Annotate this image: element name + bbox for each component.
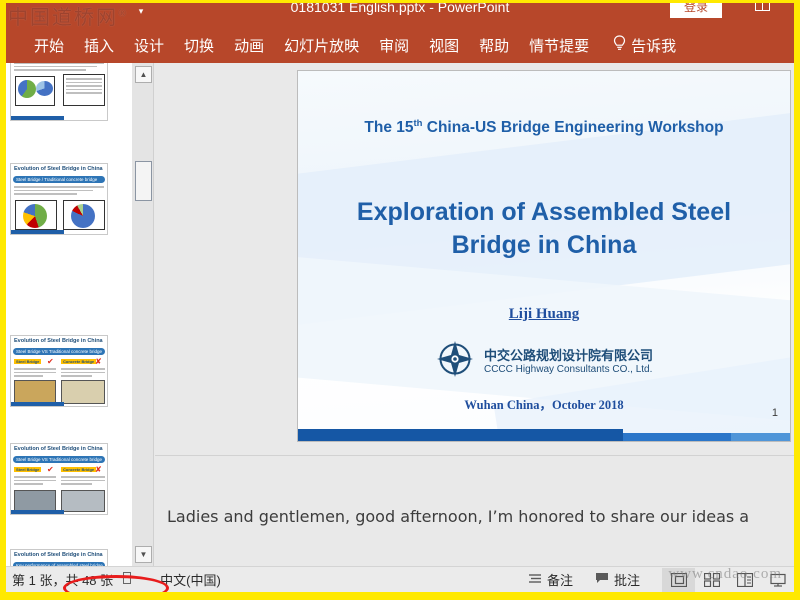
- thumb-left-label: Steel Bridge: [14, 359, 41, 364]
- slide-thumbnail-pane[interactable]: Steel Bridge / Traditional concrete brid…: [6, 63, 132, 566]
- slideshow-icon[interactable]: [761, 568, 794, 592]
- cross-mark-icon: ✘: [95, 465, 102, 474]
- slide-title-line-1: Exploration of Assembled Steel: [316, 196, 772, 229]
- notes-button[interactable]: 备注: [528, 570, 573, 589]
- thumb-body-lines: [14, 63, 104, 73]
- notes-text[interactable]: Ladies and gentlemen, good afternoon, I’…: [167, 459, 792, 566]
- tab-view[interactable]: 视图: [419, 33, 469, 58]
- scrollbar-thumb[interactable]: [135, 161, 152, 201]
- slide-main-title[interactable]: Exploration of Assembled Steel Bridge in…: [316, 196, 772, 262]
- thumb-title: Evolution of Steel Bridge in China: [14, 166, 103, 172]
- tab-review[interactable]: 审阅: [369, 33, 419, 58]
- tell-me-label: 告诉我: [631, 35, 676, 56]
- quick-access-toolbar-dropdown-icon[interactable]: ▾: [134, 4, 148, 18]
- normal-view-icon[interactable]: [662, 568, 695, 592]
- thumb-subtitle-bar: Steel Bridge VS Traditional concrete bri…: [13, 348, 105, 355]
- thumb-chart-pie-2a: [15, 200, 57, 230]
- list-item[interactable]: Steel Bridge / Traditional concrete brid…: [10, 63, 108, 121]
- thumb-table-1: [63, 74, 105, 106]
- notes-button-label: 备注: [547, 570, 573, 589]
- thumb-right-label: Concrete Bridge: [61, 359, 96, 364]
- comments-button[interactable]: 批注: [595, 570, 640, 589]
- slide-header-suffix: China-US Bridge Engineering Workshop: [422, 119, 723, 136]
- accessibility-checker-icon[interactable]: [123, 572, 134, 588]
- notes-pane[interactable]: Ladies and gentlemen, good afternoon, I’…: [155, 455, 794, 566]
- slide-sorter-icon[interactable]: [695, 568, 728, 592]
- cross-mark-icon: ✘: [95, 357, 102, 366]
- status-bar: 第 1 张，共 48 张 中文(中国) 备注: [6, 566, 794, 592]
- notes-icon: [528, 572, 542, 587]
- thumb-footer-bar: [11, 402, 64, 406]
- triangle-up-icon[interactable]: ▲: [135, 66, 152, 83]
- thumbnail-scrollbar[interactable]: ▲ ▼: [132, 63, 154, 566]
- workspace: Steel Bridge / Traditional concrete brid…: [6, 63, 794, 566]
- slide-org-name-cn: 中交公路规划设计院有限公司: [484, 348, 653, 363]
- thumb-photo-right: [61, 380, 105, 404]
- thumb-footer-bar: [11, 230, 64, 234]
- tab-slideshow[interactable]: 幻灯片放映: [274, 33, 369, 58]
- thumb-chart-pie-1: [15, 76, 55, 106]
- tab-home[interactable]: 开始: [24, 33, 74, 58]
- list-item[interactable]: Evolution of Steel Bridge in China Steel…: [10, 335, 108, 407]
- thumb-subtitle: Steel Bridge VS Traditional concrete bri…: [16, 348, 105, 355]
- tab-insert[interactable]: 插入: [74, 33, 124, 58]
- thumb-subtitle-bar: Steel Bridge / Traditional concrete brid…: [13, 176, 105, 183]
- tell-me-box[interactable]: 告诉我: [599, 33, 686, 58]
- slide-workshop-header[interactable]: The 15th China-US Bridge Engineering Wor…: [298, 118, 790, 137]
- lightbulb-icon: [613, 35, 626, 56]
- reading-view-icon[interactable]: [728, 568, 761, 592]
- thumb-title: Evolution of Steel Bridge in China: [14, 446, 103, 452]
- thumb-left-label: Steel Bridge: [14, 467, 41, 472]
- thumb-title: Evolution of Steel Bridge in China: [14, 552, 103, 558]
- thumb-footer-bar: [11, 116, 64, 120]
- notes-divider: [155, 455, 794, 456]
- slide-organization[interactable]: 中交公路规划设计院有限公司 CCCC Highway Consultants C…: [298, 339, 790, 384]
- powerpoint-window: 0181031 English.pptx - PowerPoint ▾ 登录 开…: [0, 0, 800, 600]
- thumb-footer-bar: [11, 510, 64, 514]
- list-item[interactable]: Evolution of Steel Bridge in China Steel…: [10, 163, 108, 235]
- triangle-down-icon[interactable]: ▼: [135, 546, 152, 563]
- sign-in-button[interactable]: 登录: [670, 3, 722, 18]
- check-mark-icon: ✔: [47, 357, 54, 366]
- notes-line-1: Ladies and gentlemen, good afternoon, I’…: [167, 505, 792, 528]
- slide-edit-area[interactable]: The 15th China-US Bridge Engineering Wor…: [155, 63, 794, 455]
- slide-header-prefix: The 15: [364, 119, 413, 136]
- thumb-body-lines: [14, 186, 104, 197]
- title-bar: 0181031 English.pptx - PowerPoint ▾ 登录: [6, 3, 794, 28]
- comment-icon: [595, 572, 609, 587]
- tab-help[interactable]: 帮助: [469, 33, 519, 58]
- ribbon-display-options-icon[interactable]: [755, 3, 770, 11]
- thumb-subtitle-bar: Steel Bridge VS Traditional concrete bri…: [13, 456, 105, 463]
- slide-count-indicator[interactable]: 第 1 张，共 48 张: [12, 570, 113, 589]
- language-indicator[interactable]: 中文(中国): [160, 570, 221, 589]
- tab-animations[interactable]: 动画: [224, 33, 274, 58]
- list-item[interactable]: Evolution of Steel Bridge in China Key p…: [10, 549, 108, 566]
- thumb-right-label: Concrete Bridge: [61, 467, 96, 472]
- thumb-chart-pie-2b: [63, 200, 105, 230]
- thumb-photo-left: [14, 380, 56, 404]
- thumb-photo-right: [61, 490, 105, 512]
- list-item[interactable]: Evolution of Steel Bridge in China Steel…: [10, 443, 108, 515]
- tab-design[interactable]: 设计: [124, 33, 174, 58]
- slide-org-name-en: CCCC Highway Consultants CO., Ltd.: [484, 363, 653, 376]
- view-switcher: [662, 568, 794, 592]
- slide-location-date[interactable]: Wuhan China，October 2018: [298, 394, 790, 413]
- ribbon-tab-bar: 开始 插入 设计 切换 动画 幻灯片放映 审阅 视图 帮助 情节提要 告诉我: [6, 28, 794, 63]
- cccc-compass-logo-icon: [435, 339, 475, 384]
- slide-title-line-2: Bridge in China: [316, 229, 772, 262]
- tab-transitions[interactable]: 切换: [174, 33, 224, 58]
- thumb-title: Evolution of Steel Bridge in China: [14, 338, 103, 344]
- slide-page-number: 1: [772, 407, 778, 419]
- current-slide[interactable]: The 15th China-US Bridge Engineering Wor…: [297, 70, 791, 442]
- tab-storyboard[interactable]: 情节提要: [519, 33, 599, 58]
- thumb-subtitle: Steel Bridge VS Traditional concrete bri…: [16, 456, 105, 463]
- slide-author[interactable]: Liji Huang: [298, 306, 790, 323]
- check-mark-icon: ✔: [47, 465, 54, 474]
- comments-button-label: 批注: [614, 570, 640, 589]
- slide-footer-bar: [298, 429, 790, 441]
- thumb-photo-left: [14, 490, 56, 512]
